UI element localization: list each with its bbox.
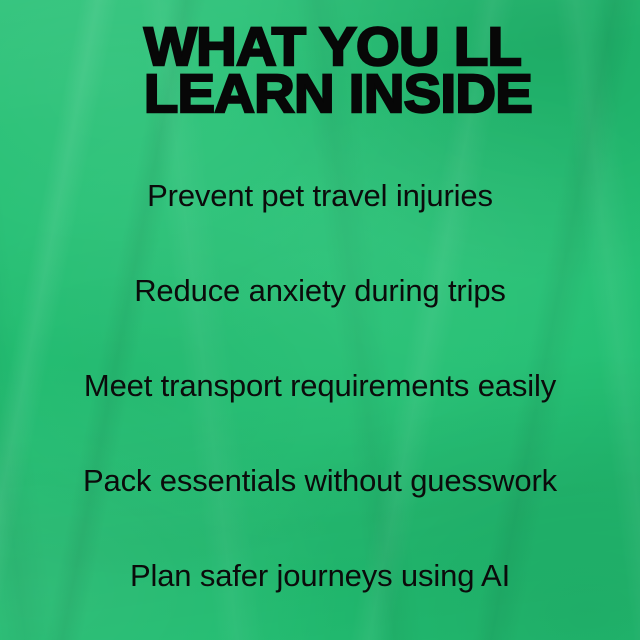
page-title: WHAT YOU LL LEARN INSIDE — [144, 24, 537, 118]
benefit-list: Prevent pet travel injuries Reduce anxie… — [0, 148, 640, 623]
list-item: Prevent pet travel injuries — [0, 148, 640, 243]
list-item: Pack essentials without guesswork — [0, 433, 640, 528]
list-item: Reduce anxiety during trips — [0, 243, 640, 338]
page-title-line-2: LEARN INSIDE — [144, 71, 537, 118]
poster-canvas: WHAT YOU LL LEARN INSIDE Prevent pet tra… — [0, 0, 640, 640]
list-item: Plan safer journeys using AI — [0, 528, 640, 623]
poster-content: WHAT YOU LL LEARN INSIDE Prevent pet tra… — [0, 0, 640, 640]
list-item: Meet transport requirements easily — [0, 338, 640, 433]
